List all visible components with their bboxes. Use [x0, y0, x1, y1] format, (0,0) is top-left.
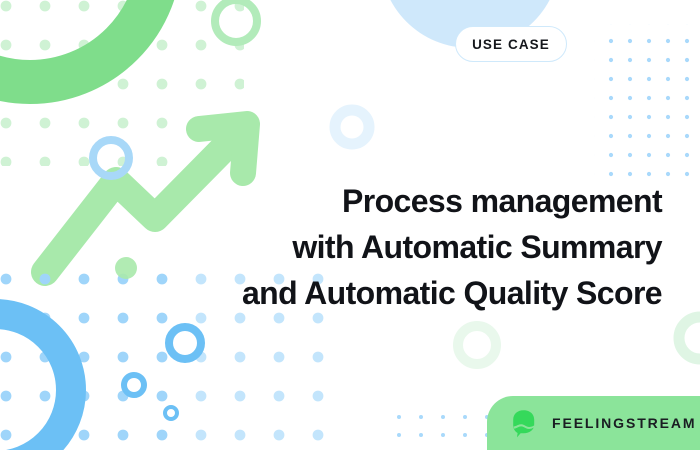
- page-title: Process management with Automatic Summar…: [232, 178, 662, 316]
- pale-green-rings-bottom: [458, 317, 700, 364]
- page-title-line-1: Process management: [232, 178, 662, 224]
- brand-logo-bar: FEELINGSTREAM: [487, 396, 700, 450]
- blue-ring-on-arrow: [93, 140, 129, 176]
- pale-blue-ring: [335, 110, 369, 144]
- speech-bubble-icon: [509, 408, 539, 438]
- use-case-badge-label: USE CASE: [472, 37, 550, 52]
- page-title-line-2: with Automatic Summary: [232, 224, 662, 270]
- green-ring-outline-top: [215, 0, 257, 42]
- green-dot-accent: [115, 257, 137, 279]
- blue-dot-grid-right: [594, 24, 700, 184]
- green-dot-grid: [0, 0, 244, 166]
- green-arc-top-left: [0, 0, 175, 82]
- page-title-line-3: and Automatic Quality Score: [232, 270, 662, 316]
- growth-arrow: [45, 124, 247, 272]
- use-case-banner: USE CASE Process management with Automat…: [0, 0, 700, 450]
- blue-rings-trio: [124, 327, 201, 419]
- use-case-badge: USE CASE: [455, 26, 567, 62]
- blue-arc-bottom-left: [0, 314, 71, 450]
- brand-wordmark: FEELINGSTREAM: [552, 415, 696, 431]
